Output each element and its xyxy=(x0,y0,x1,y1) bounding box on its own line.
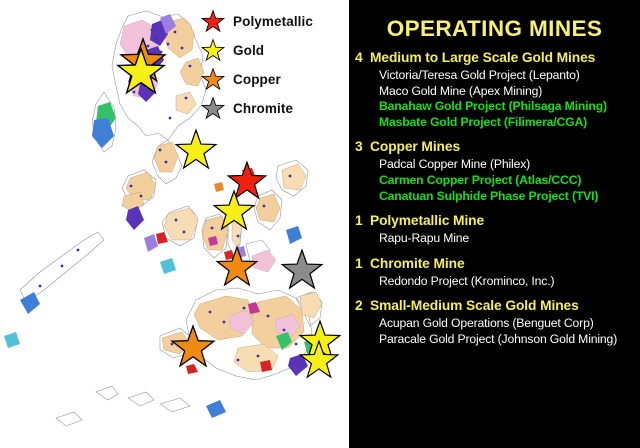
map-legend: Polymetallic Gold Copper Chromite xyxy=(200,8,348,124)
legend-label-polymetallic: Polymetallic xyxy=(233,14,313,29)
legend-label-chromite: Chromite xyxy=(233,101,293,116)
section-items: Padcal Copper Mine (Philex) Carmen Coppe… xyxy=(349,157,640,204)
page-title: OPERATING MINES xyxy=(349,16,640,42)
operating-mines-panel: OPERATING MINES 4 Medium to Large Scale … xyxy=(349,0,640,448)
star-icon xyxy=(200,96,226,122)
list-item: Rapu-Rapu Mine xyxy=(379,231,640,247)
star-icon xyxy=(200,67,226,93)
section-items: Acupan Gold Operations (Benguet Corp) Pa… xyxy=(349,316,640,347)
copper-star-cebu xyxy=(217,247,257,285)
list-item: Banahaw Gold Project (Philsaga Mining) xyxy=(379,99,640,115)
legend-item-copper: Copper xyxy=(200,66,348,93)
section-items: Rapu-Rapu Mine xyxy=(349,231,640,247)
section-title: Copper Mines xyxy=(370,139,460,154)
section-copper-mines: 3 Copper Mines Padcal Copper Mine (Phile… xyxy=(349,139,640,204)
list-item: Acupan Gold Operations (Benguet Corp) xyxy=(379,316,640,332)
section-count: 3 xyxy=(355,139,370,154)
section-items: Redondo Project (Krominco, Inc.) xyxy=(349,274,640,290)
philippines-geology-map-panel: .ln { fill:none; stroke:#8e8e9a; stroke-… xyxy=(0,0,349,448)
section-title: Chromite Mine xyxy=(370,256,465,271)
section-heading: 1 Chromite Mine xyxy=(349,256,640,271)
legend-item-gold: Gold xyxy=(200,37,348,64)
list-item: Maco Gold Mine (Apex Mining) xyxy=(379,84,640,100)
gold-star-masbate xyxy=(176,130,216,168)
legend-label-copper: Copper xyxy=(233,72,281,87)
section-chromite-mine: 1 Chromite Mine Redondo Project (Krominc… xyxy=(349,256,640,290)
section-heading: 2 Small-Medium Scale Gold Mines xyxy=(349,298,640,313)
legend-item-polymetallic: Polymetallic xyxy=(200,8,348,35)
chromite-star-redondo xyxy=(282,250,322,288)
section-medium-large-gold: 4 Medium to Large Scale Gold Mines Victo… xyxy=(349,50,640,130)
section-polymetallic-mine: 1 Polymetallic Mine Rapu-Rapu Mine xyxy=(349,213,640,247)
list-item: Carmen Copper Project (Atlas/CCC) xyxy=(379,173,640,189)
slide-root: .ln { fill:none; stroke:#8e8e9a; stroke-… xyxy=(0,0,640,448)
section-heading: 1 Polymetallic Mine xyxy=(349,213,640,228)
section-count: 1 xyxy=(355,256,370,271)
section-items: Victoria/Teresa Gold Project (Lepanto) M… xyxy=(349,68,640,130)
section-small-medium-gold: 2 Small-Medium Scale Gold Mines Acupan G… xyxy=(349,298,640,347)
section-title: Small-Medium Scale Gold Mines xyxy=(370,298,579,313)
section-heading: 4 Medium to Large Scale Gold Mines xyxy=(349,50,640,65)
section-count: 4 xyxy=(355,50,370,65)
star-icon xyxy=(200,38,226,64)
list-item: Canatuan Sulphide Phase Project (TVI) xyxy=(379,189,640,205)
section-count: 1 xyxy=(355,213,370,228)
list-item: Masbate Gold Project (Filimera/CGA) xyxy=(379,115,640,131)
section-title: Polymetallic Mine xyxy=(370,213,484,228)
list-item: Padcal Copper Mine (Philex) xyxy=(379,157,640,173)
mine-sections-list: 4 Medium to Large Scale Gold Mines Victo… xyxy=(349,50,640,357)
legend-label-gold: Gold xyxy=(233,43,264,58)
section-title: Medium to Large Scale Gold Mines xyxy=(370,50,595,65)
section-heading: 3 Copper Mines xyxy=(349,139,640,154)
section-count: 2 xyxy=(355,298,370,313)
list-item: Victoria/Teresa Gold Project (Lepanto) xyxy=(379,68,640,84)
star-icon xyxy=(200,9,226,35)
legend-item-chromite: Chromite xyxy=(200,95,348,122)
list-item: Paracale Gold Project (Johnson Gold Mini… xyxy=(379,332,640,348)
list-item: Redondo Project (Krominco, Inc.) xyxy=(379,274,640,290)
